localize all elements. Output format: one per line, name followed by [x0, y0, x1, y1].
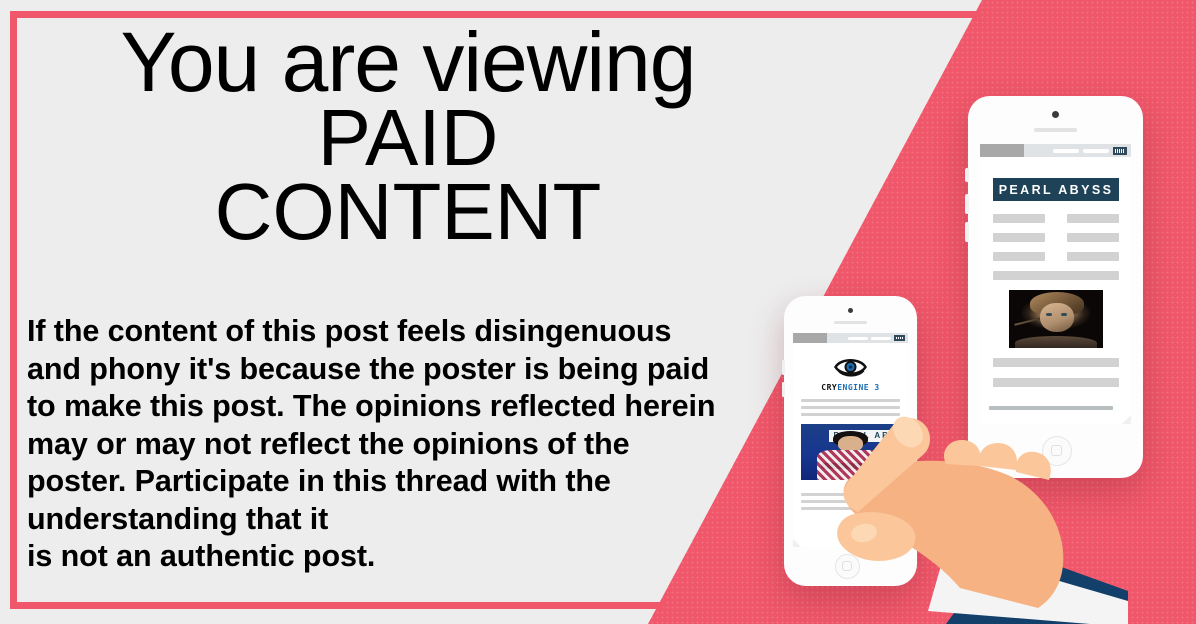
content-placeholder-bar — [993, 214, 1045, 223]
headline-line-3: CONTENT — [28, 173, 788, 251]
paid-content-banner: You are viewing PAID CONTENT If the cont… — [0, 0, 1196, 624]
cryengine-eye-icon — [834, 355, 867, 379]
browser-menu-icon[interactable] — [1113, 147, 1127, 155]
pointing-hand-cursor — [828, 396, 1128, 624]
headline-line-2: PAID — [28, 99, 788, 177]
phone-volume-down-button[interactable] — [782, 382, 785, 397]
content-placeholder-bar — [993, 271, 1119, 280]
content-placeholder-bar — [1067, 233, 1119, 242]
eye-icon-svg — [834, 355, 867, 379]
content-placeholder-bar — [993, 233, 1045, 242]
cryengine-wordmark: CRYENGINE 3 — [793, 383, 908, 392]
portrait-face — [1040, 303, 1074, 332]
pearl-abyss-logo-banner: PEARL ABYSS — [993, 178, 1119, 201]
content-placeholder-bar — [993, 378, 1119, 387]
browser-chrome-bar[interactable] — [793, 333, 908, 343]
phone-camera-icon — [1052, 111, 1059, 118]
phone-mute-switch[interactable] — [965, 168, 969, 182]
browser-chrome-bar[interactable] — [980, 144, 1131, 157]
browser-address-pill-2[interactable] — [871, 337, 891, 340]
disclaimer-paragraph: If the content of this post feels dising… — [27, 313, 727, 576]
character-portrait-image — [1009, 290, 1103, 348]
phone-volume-up-button[interactable] — [782, 360, 785, 375]
phone-volume-up-button[interactable] — [965, 194, 969, 214]
browser-active-tab[interactable] — [793, 333, 827, 343]
pearl-abyss-phone-screen[interactable]: PEARL ABYSS — [980, 144, 1131, 424]
content-placeholder-bar — [1067, 252, 1119, 261]
content-placeholder-bar — [1067, 214, 1119, 223]
hand-folded-finger-3 — [1016, 452, 1051, 480]
phone-earpiece-icon — [834, 321, 867, 324]
content-placeholder-bar — [993, 358, 1119, 367]
browser-active-tab[interactable] — [980, 144, 1024, 157]
headline-block: You are viewing PAID CONTENT — [28, 22, 788, 251]
cryengine-wordmark-prefix: CRY — [821, 383, 837, 392]
portrait-eye-left — [1046, 313, 1053, 315]
hand-folded-finger-2 — [979, 443, 1017, 470]
cryengine-wordmark-suffix: ENGINE 3 — [837, 383, 880, 392]
browser-address-pill-1[interactable] — [848, 337, 868, 340]
hand-folded-finger-1 — [944, 440, 981, 466]
browser-address-pill-2[interactable] — [1083, 149, 1109, 153]
page-corner-fold — [793, 539, 801, 547]
headline-line-1: You are viewing — [28, 22, 788, 103]
pointing-hand-svg — [828, 396, 1128, 624]
browser-address-pill-1[interactable] — [1053, 149, 1079, 153]
phone-camera-icon — [848, 308, 853, 313]
content-placeholder-bar — [993, 252, 1045, 261]
portrait-eye-right — [1061, 313, 1068, 315]
phone-volume-down-button[interactable] — [965, 222, 969, 242]
portrait-shoulders — [1015, 336, 1098, 348]
browser-menu-icon[interactable] — [894, 335, 905, 341]
phone-earpiece-icon — [1034, 128, 1077, 132]
